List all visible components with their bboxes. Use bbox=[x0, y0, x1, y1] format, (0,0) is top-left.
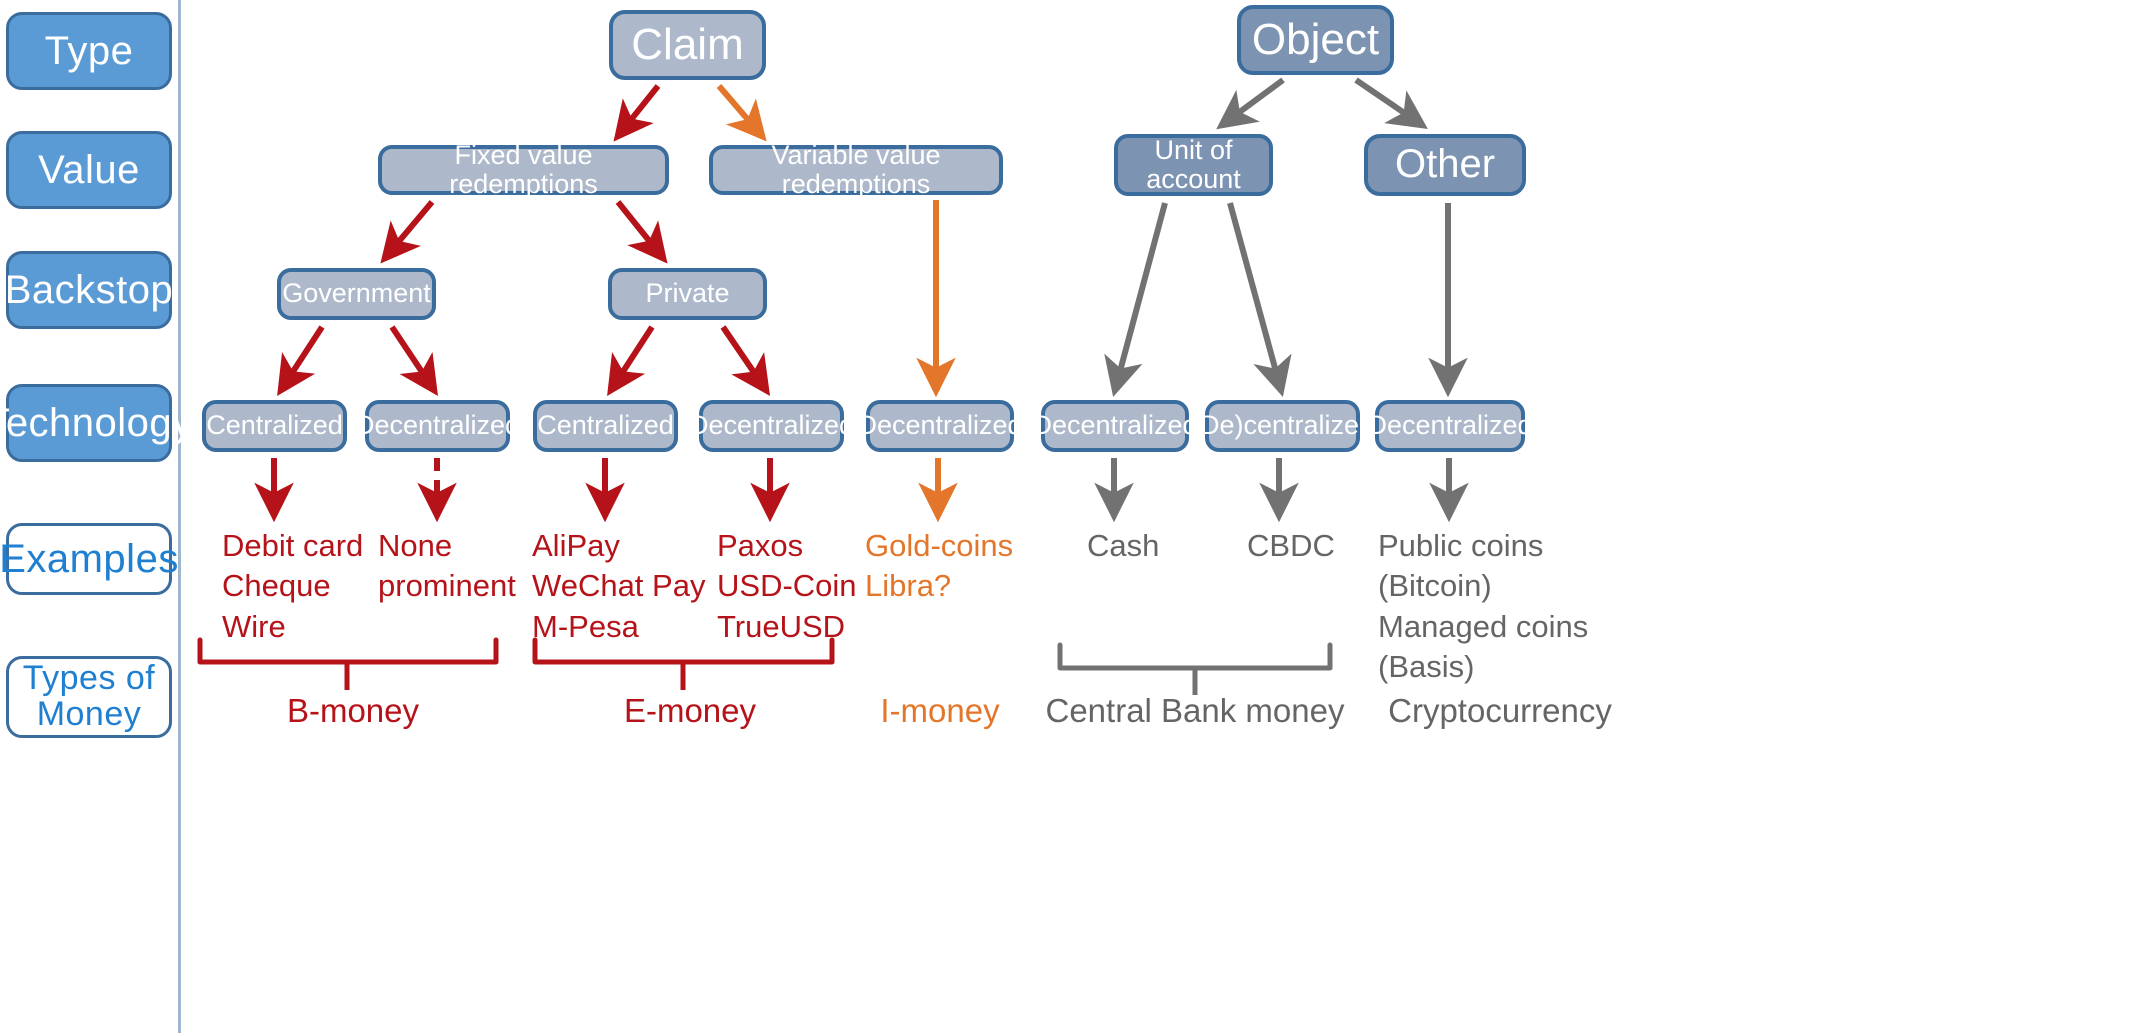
node-fixed-value-label: Fixed value redemptions bbox=[388, 141, 659, 199]
row-label-types-of-money-text: Types of Money bbox=[23, 661, 156, 732]
node-object-label: Object bbox=[1252, 16, 1379, 64]
node-private-label: Private bbox=[645, 279, 729, 308]
node-tech-government-decentralized[interactable]: Decentralized bbox=[365, 400, 510, 452]
node-tech-government-centralized[interactable]: Centralized bbox=[202, 400, 347, 452]
node-fixed-value-redemptions[interactable]: Fixed value redemptions bbox=[378, 145, 669, 195]
money-type-e-money: E-money bbox=[585, 690, 795, 733]
arrow-object-to-other bbox=[1356, 80, 1422, 125]
arrow-private-to-decentralized bbox=[723, 327, 766, 390]
node-private[interactable]: Private bbox=[608, 268, 767, 320]
row-label-backstop[interactable]: Backstop bbox=[6, 251, 172, 329]
example-gold-coins: Gold-coins Libra? bbox=[865, 526, 1013, 607]
arrow-object-to-unit-of-account bbox=[1222, 80, 1283, 125]
node-tech-uoa-de-centralized-label: (De)centralized bbox=[1191, 411, 1374, 440]
node-tech-gov-centralized-label: Centralized bbox=[206, 411, 343, 440]
arrow-uoa-to-de-centralized bbox=[1230, 203, 1281, 390]
node-tech-private-centralized[interactable]: Centralized bbox=[533, 400, 678, 452]
connector-layer bbox=[0, 0, 2145, 1033]
diagram-canvas: Type Value Backstop Technology Examples … bbox=[0, 0, 2145, 1033]
arrow-fixed-value-to-private bbox=[618, 202, 663, 258]
row-label-examples-text: Examples bbox=[0, 538, 179, 580]
node-tech-other-decentralized[interactable]: Decentralized bbox=[1375, 400, 1525, 452]
example-cbdc: CBDC bbox=[1247, 526, 1335, 566]
row-label-value-text: Value bbox=[38, 149, 140, 191]
arrow-private-to-centralized bbox=[611, 327, 652, 390]
row-label-backstop-text: Backstop bbox=[5, 269, 174, 311]
node-unit-of-account-label: Unit of account bbox=[1146, 136, 1241, 194]
example-public-coins: Public coins (Bitcoin) Managed coins (Ba… bbox=[1378, 526, 1588, 687]
arrow-claim-to-fixed-value bbox=[618, 86, 658, 136]
node-tech-priv-centralized-label: Centralized bbox=[537, 411, 674, 440]
node-unit-of-account[interactable]: Unit of account bbox=[1114, 134, 1273, 196]
node-tech-uoa-decentralized[interactable]: Decentralized bbox=[1041, 400, 1189, 452]
money-type-cryptocurrency: Cryptocurrency bbox=[1370, 690, 1630, 733]
node-other-label: Other bbox=[1395, 143, 1495, 186]
example-cash: Cash bbox=[1087, 526, 1159, 566]
row-label-technology[interactable]: Technology bbox=[6, 384, 172, 462]
column-divider bbox=[178, 0, 181, 1033]
node-tech-variable-decentralized[interactable]: Decentralized bbox=[866, 400, 1014, 452]
node-tech-private-decentralized[interactable]: Decentralized bbox=[699, 400, 844, 452]
node-tech-priv-decentralized-label: Decentralized bbox=[689, 411, 854, 440]
node-claim-label: Claim bbox=[631, 21, 743, 69]
row-label-types-of-money[interactable]: Types of Money bbox=[6, 656, 172, 738]
node-government[interactable]: Government bbox=[277, 268, 436, 320]
example-debit-card: Debit card Cheque Wire bbox=[222, 526, 363, 647]
money-type-i-money: I-money bbox=[855, 690, 1025, 733]
node-tech-uoa-de-centralized[interactable]: (De)centralized bbox=[1205, 400, 1360, 452]
row-label-type[interactable]: Type bbox=[6, 12, 172, 90]
node-other[interactable]: Other bbox=[1364, 134, 1526, 196]
arrow-claim-to-variable-value bbox=[719, 86, 762, 136]
arrow-government-to-centralized bbox=[281, 327, 322, 390]
arrow-government-to-decentralized bbox=[392, 327, 434, 390]
node-government-label: Government bbox=[282, 279, 431, 308]
node-tech-other-decentralized-label: Decentralized bbox=[1367, 411, 1532, 440]
money-type-b-money: B-money bbox=[248, 690, 458, 733]
money-type-central-bank-money: Central Bank money bbox=[1045, 690, 1345, 733]
brace-central-bank-money bbox=[1060, 645, 1330, 668]
example-paxos: Paxos USD-Coin TrueUSD bbox=[717, 526, 857, 647]
row-label-technology-text: Technology bbox=[0, 402, 193, 444]
node-claim[interactable]: Claim bbox=[609, 10, 766, 80]
node-variable-value-redemptions[interactable]: Variable value redemptions bbox=[709, 145, 1003, 195]
row-label-value[interactable]: Value bbox=[6, 131, 172, 209]
arrow-uoa-to-decentralized bbox=[1115, 203, 1165, 390]
example-alipay: AliPay WeChat Pay M-Pesa bbox=[532, 526, 705, 647]
node-tech-var-decentralized-label: Decentralized bbox=[857, 411, 1022, 440]
node-object[interactable]: Object bbox=[1237, 5, 1394, 75]
node-tech-gov-decentralized-label: Decentralized bbox=[355, 411, 520, 440]
row-label-type-text: Type bbox=[45, 30, 134, 72]
node-tech-uoa-decentralized-label: Decentralized bbox=[1032, 411, 1197, 440]
example-none-prominent: None prominent bbox=[378, 526, 516, 607]
arrow-fixed-value-to-government bbox=[385, 202, 432, 258]
node-variable-value-label: Variable value redemptions bbox=[719, 141, 993, 199]
row-label-examples[interactable]: Examples bbox=[6, 523, 172, 595]
